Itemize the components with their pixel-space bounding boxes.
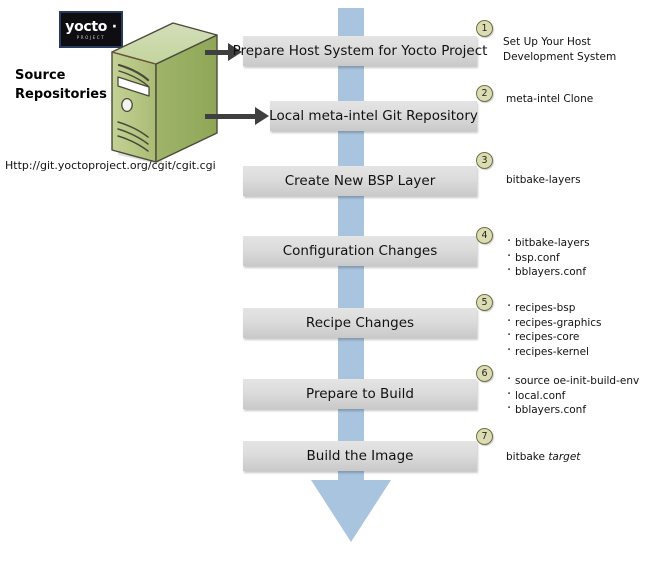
connector-arrowhead-to-step-2 xyxy=(255,107,269,125)
process-box-step-2[interactable]: Local meta-intel Git Repository xyxy=(270,101,477,131)
annotation-step-7-command: bitbake xyxy=(506,451,548,463)
process-box-step-7[interactable]: Build the Image xyxy=(243,441,477,471)
source-repository-url: Http://git.yoctoproject.org/cgit/cgit.cg… xyxy=(5,159,216,172)
source-repositories-label-line1: Source xyxy=(15,66,115,85)
annotation-step-6-item-2: local.conf xyxy=(506,389,639,404)
annotation-step-4-list: bitbake-layers bsp.conf bblayers.conf xyxy=(506,236,590,280)
step-number-2: 2 xyxy=(476,85,493,102)
annotation-step-5: recipes-bsp recipes-graphics recipes-cor… xyxy=(506,301,602,359)
process-box-step-1[interactable]: Prepare Host System for Yocto Project xyxy=(243,36,477,66)
annotation-step-5-item-3: recipes-core xyxy=(506,330,602,345)
source-repositories-label: Source Repositories xyxy=(15,66,115,104)
connector-line-to-step-1 xyxy=(205,50,229,55)
annotation-step-3-line-1: bitbake-layers xyxy=(506,173,581,188)
annotation-step-4: bitbake-layers bsp.conf bblayers.conf xyxy=(506,236,590,280)
annotation-step-1-line-2: Development System xyxy=(503,50,616,65)
annotation-step-2: meta-intel Clone xyxy=(506,92,593,107)
workflow-flow-arrow-head xyxy=(311,480,391,542)
annotation-step-3: bitbake-layers xyxy=(506,173,581,188)
annotation-step-4-item-1: bitbake-layers xyxy=(506,236,590,251)
annotation-step-1: Set Up Your Host Development System xyxy=(503,35,616,64)
annotation-step-4-item-2: bsp.conf xyxy=(506,251,590,266)
annotation-step-5-item-1: recipes-bsp xyxy=(506,301,602,316)
step-number-5: 5 xyxy=(476,294,493,311)
process-box-step-4[interactable]: Configuration Changes xyxy=(243,236,477,266)
annotation-step-6-list: source oe-init-build-env local.conf bbla… xyxy=(506,374,639,418)
connector-line-to-step-2 xyxy=(205,114,256,119)
annotation-step-7-target: target xyxy=(548,451,580,463)
annotation-step-2-line-1: meta-intel Clone xyxy=(506,92,593,107)
step-number-6: 6 xyxy=(476,365,493,382)
step-number-4: 4 xyxy=(476,227,493,244)
annotation-step-4-item-3: bblayers.conf xyxy=(506,265,590,280)
source-repositories-label-line2: Repositories xyxy=(15,85,115,104)
annotation-step-5-item-2: recipes-graphics xyxy=(506,316,602,331)
process-box-step-3[interactable]: Create New BSP Layer xyxy=(243,166,477,196)
step-number-1: 1 xyxy=(476,20,493,37)
annotation-step-6: source oe-init-build-env local.conf bbla… xyxy=(506,374,639,418)
process-box-step-6[interactable]: Prepare to Build xyxy=(243,379,477,409)
annotation-step-6-item-3: bblayers.conf xyxy=(506,403,639,418)
process-box-step-5[interactable]: Recipe Changes xyxy=(243,308,477,338)
annotation-step-5-list: recipes-bsp recipes-graphics recipes-cor… xyxy=(506,301,602,359)
annotation-step-6-item-1: source oe-init-build-env xyxy=(506,374,639,389)
server-tower-icon xyxy=(96,18,226,163)
annotation-step-7-line-1: bitbake target xyxy=(506,450,580,465)
step-number-7: 7 xyxy=(476,428,493,445)
annotation-step-5-item-4: recipes-kernel xyxy=(506,345,602,360)
annotation-step-7: bitbake target xyxy=(506,450,580,465)
step-number-3: 3 xyxy=(476,152,493,169)
annotation-step-1-line-1: Set Up Your Host xyxy=(503,35,616,50)
